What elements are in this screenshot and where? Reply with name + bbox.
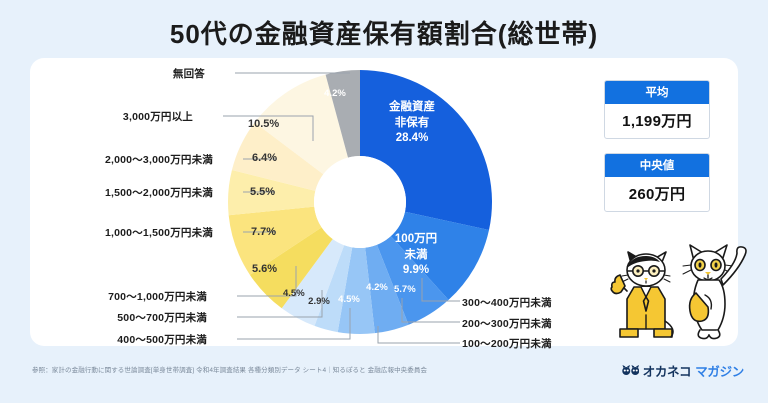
logo-text-magazine: マガジン	[695, 361, 744, 380]
stat-median: 中央値 260万円	[604, 153, 710, 212]
cat-businessman-icon	[611, 252, 673, 337]
stat-median-label: 中央値	[605, 154, 709, 177]
brand-logo[interactable]: オカネコ マガジン	[622, 361, 744, 380]
slice-label-20m-30m: 2,000〜3,000万円未満	[40, 152, 213, 167]
pct-over-30m: 10.5%	[248, 118, 279, 130]
slice-label-1m-2m: 100〜200万円未満	[462, 336, 552, 351]
pct-no-answer: 4.2%	[322, 88, 348, 99]
cat-white-icon	[683, 245, 746, 339]
pct-5m-7m: 4.5%	[283, 288, 305, 299]
pct-15m-20m: 5.5%	[250, 186, 275, 198]
slice-label-4m-5m: 400〜500万円未満	[40, 332, 207, 347]
slice-label-3m-4m: 300〜400万円未満	[462, 295, 552, 310]
slice-label-over-30m: 3,000万円以上	[40, 109, 193, 124]
stat-median-value: 260万円	[605, 177, 709, 211]
pct-7m-10m: 5.6%	[252, 263, 277, 275]
slice-label-7m-10m: 700〜1,000万円未満	[40, 289, 207, 304]
slice-label-15m-20m: 1,500〜2,000万円未満	[40, 185, 213, 200]
pct-3m-4m: 4.5%	[336, 294, 362, 305]
stat-average: 平均 1,199万円	[604, 80, 710, 139]
stat-average-value: 1,199万円	[605, 104, 709, 138]
logo-text-okaneko: オカネコ	[643, 361, 692, 380]
slice-label-10m-15m: 1,000〜1,500万円未満	[40, 225, 213, 240]
segment-label-nonholder: 金融資産 非保有 28.4%	[352, 100, 472, 147]
infographic-root: 50代の金融資産保有額割合(総世帯) 金融資産 非保有 28.4%	[0, 0, 768, 403]
slice-label-2m-3m: 200〜300万円未満	[462, 316, 552, 331]
cat-face-icon	[622, 365, 639, 376]
pct-10m-15m: 7.7%	[251, 226, 276, 238]
pct-20m-30m: 6.4%	[252, 152, 277, 164]
slice-label-no-answer: 無回答	[40, 66, 205, 81]
segment-label-under100: 100万円 未満 9.9%	[368, 232, 464, 279]
pct-4m-5m: 2.9%	[306, 296, 332, 307]
page-title: 50代の金融資産保有額割合(総世帯)	[0, 14, 768, 51]
source-note: 参照：家計の金融行動に関する世論調査[単身世帯調査] 令和4年調査結果 各種分類…	[32, 364, 427, 374]
pct-2m-3m: 4.2%	[364, 282, 390, 293]
pct-1m-2m: 5.7%	[394, 284, 416, 295]
slice-label-5m-7m: 500〜700万円未満	[40, 310, 207, 325]
stat-average-label: 平均	[605, 81, 709, 104]
cat-mascots-illustration	[610, 235, 762, 351]
